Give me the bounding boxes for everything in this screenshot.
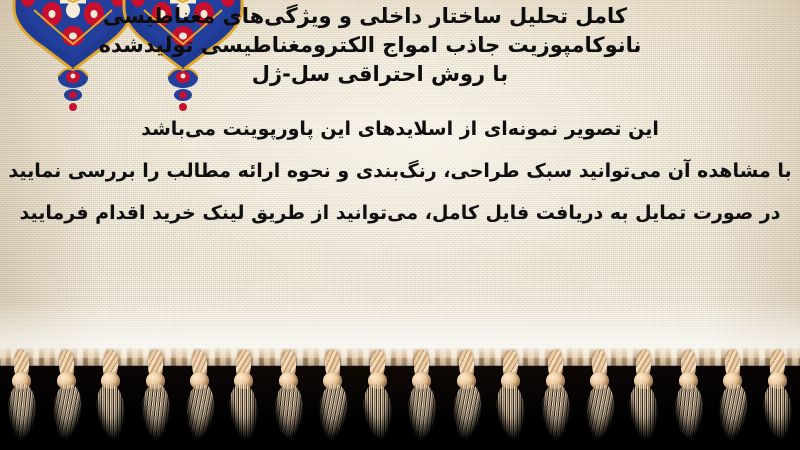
tassel-skirt	[542, 384, 570, 440]
slide-body: این تصویر نمونه‌ای از اسلایدهای این پاور…	[0, 108, 800, 234]
tassel-skirt	[494, 383, 528, 442]
fringe-tassel	[672, 350, 706, 450]
fringe-tassel	[450, 350, 484, 450]
tassel-skirt	[317, 383, 350, 441]
fringe-tassel	[227, 350, 261, 450]
fringe-tassel	[539, 350, 573, 450]
tassel-skirt	[761, 383, 795, 442]
fringe-tassel	[50, 350, 84, 450]
tassel-skirt	[361, 383, 395, 442]
presentation-slide: کامل تحلیل ساختار داخلی و ویژگی‌های مغنا…	[0, 0, 800, 450]
fringe-tassel	[139, 350, 173, 450]
tassel-skirt	[228, 383, 262, 442]
tassel-skirt	[628, 383, 662, 442]
tassel-skirt	[408, 384, 436, 440]
title-line-1: کامل تحلیل ساختار داخلی و ویژگی‌های مغنا…	[0, 2, 790, 31]
tassel-skirt	[8, 384, 36, 440]
title-line-2: نانوکامپوزیت جاذب امواج الکترومغناطیسی ت…	[0, 31, 790, 60]
tassel-skirt	[584, 383, 617, 441]
fringe-tassel	[716, 350, 750, 450]
fringe-tassel	[405, 350, 439, 450]
fringe-tassel	[183, 350, 217, 450]
tassel-skirt	[94, 383, 128, 442]
tassel-skirt	[142, 384, 170, 440]
fringe-tassel	[272, 350, 306, 450]
carpet-knot-fringe	[0, 350, 800, 450]
fringe-tassel	[361, 350, 395, 450]
tassel-skirt	[675, 384, 703, 440]
slide-title: کامل تحلیل ساختار داخلی و ویژگی‌های مغنا…	[0, 2, 790, 89]
tassel-skirt	[450, 383, 483, 441]
tassel-skirt	[50, 383, 83, 441]
tassel-skirt	[275, 384, 303, 440]
body-line-3: در صورت تمایل به دریافت فایل کامل، می‌تو…	[0, 192, 800, 234]
fringe-tassel	[316, 350, 350, 450]
tassel-skirt	[184, 383, 217, 441]
fringe-tassel	[94, 350, 128, 450]
fringe-tassel	[494, 350, 528, 450]
fringe-tassel	[583, 350, 617, 450]
fringe-tassel	[5, 350, 39, 450]
body-line-2: با مشاهده آن می‌توانید سبک طراحی، رنگ‌بن…	[0, 150, 800, 192]
title-line-3: با روش احتراقی سل-ژل	[0, 60, 790, 89]
body-line-1: این تصویر نمونه‌ای از اسلایدهای این پاور…	[0, 108, 800, 150]
fringe-tassel	[761, 350, 795, 450]
tassel-skirt	[717, 383, 750, 441]
fringe-tassel	[627, 350, 661, 450]
